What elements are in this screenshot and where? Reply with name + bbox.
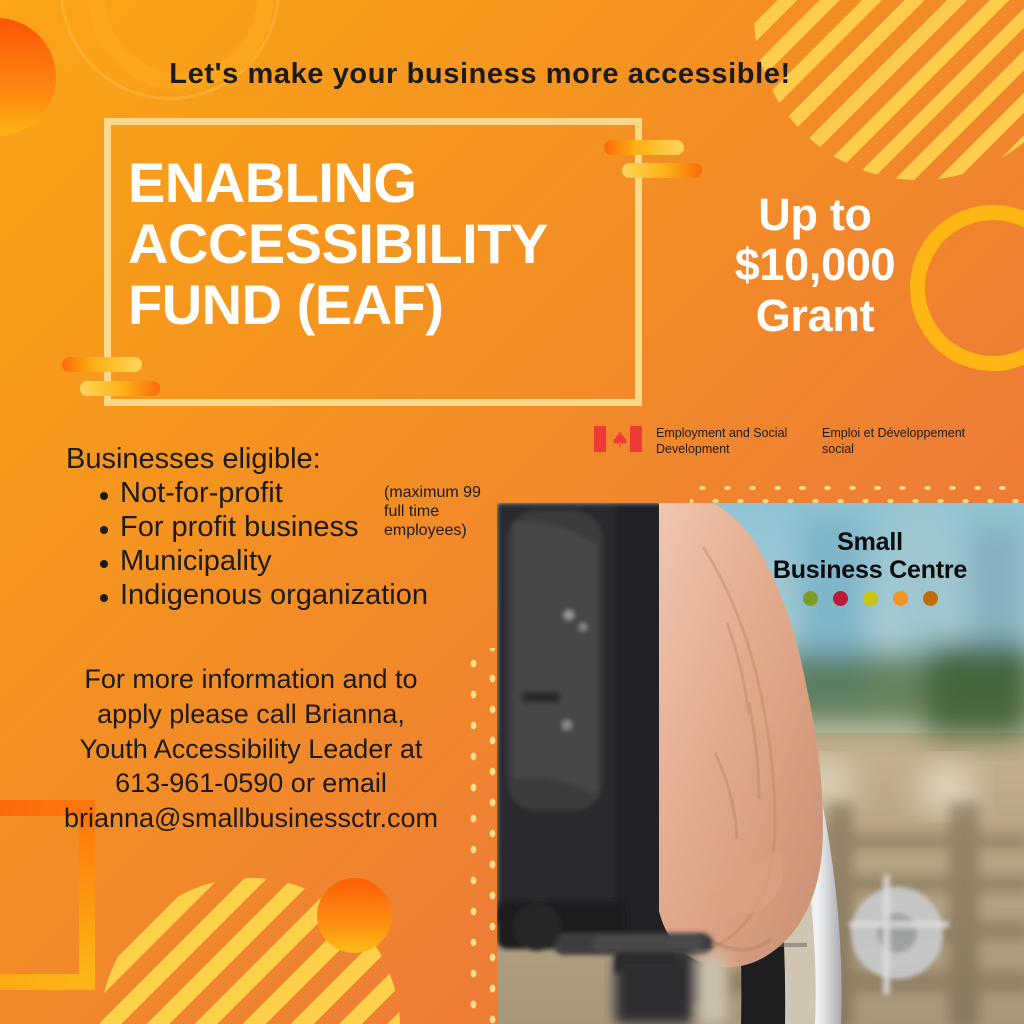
logo-line-1: Small bbox=[745, 528, 995, 556]
canada-flag-icon bbox=[594, 426, 642, 452]
contact-block: For more information and to apply please… bbox=[30, 662, 472, 836]
page-title: ENABLING ACCESSIBILITY FUND (EAF) bbox=[128, 152, 648, 335]
contact-line-3: Youth Accessibility Leader at bbox=[30, 732, 472, 767]
poster-canvas: Let's make your business more accessible… bbox=[0, 0, 1024, 1024]
wordmark-text-french: Emploi et Développement social bbox=[822, 426, 992, 458]
title-line-1: ENABLING bbox=[128, 152, 648, 213]
grant-line-3: Grant bbox=[690, 291, 940, 341]
decor-striped-circle-bottom-left bbox=[100, 878, 400, 1024]
contact-phone: 613-961-0590 or email bbox=[30, 766, 472, 801]
logo-dot-crimson bbox=[833, 591, 848, 606]
logo-dot-green bbox=[803, 591, 818, 606]
title-line-2: ACCESSIBILITY bbox=[128, 213, 648, 274]
list-item: Municipality bbox=[120, 546, 428, 580]
government-wordmark: Employment and Social Development Emploi… bbox=[594, 426, 992, 458]
list-item: Not-for-profit bbox=[120, 478, 428, 512]
logo-dot-orange bbox=[893, 591, 908, 606]
list-item: For profit business bbox=[120, 512, 428, 546]
contact-email: brianna@smallbusinessctr.com bbox=[30, 801, 472, 836]
logo-dots bbox=[745, 591, 995, 606]
decor-dot-row bbox=[690, 478, 1024, 506]
decor-circle-bottom-left bbox=[317, 878, 392, 953]
logo-line-2: Business Centre bbox=[745, 556, 995, 584]
grant-amount-callout: Up to $10,000 Grant bbox=[690, 190, 940, 341]
logo-dot-brown bbox=[923, 591, 938, 606]
eligibility-list: Not-for-profit For profit business Munic… bbox=[92, 478, 428, 614]
contact-line-2: apply please call Brianna, bbox=[30, 697, 472, 732]
headline: Let's make your business more accessible… bbox=[0, 58, 960, 91]
logo-dot-yellow bbox=[863, 591, 878, 606]
contact-line-1: For more information and to bbox=[30, 662, 472, 697]
eligibility-note: (maximum 99 full time employees) bbox=[384, 484, 494, 541]
wordmark-text-english: Employment and Social Development bbox=[656, 426, 808, 458]
list-item: Indigenous organization bbox=[120, 580, 428, 614]
grant-line-1: Up to bbox=[690, 190, 940, 240]
small-business-centre-logo: Small Business Centre bbox=[745, 528, 995, 606]
title-line-3: FUND (EAF) bbox=[128, 274, 648, 335]
eligibility-heading: Businesses eligible: bbox=[66, 443, 321, 476]
grant-line-2: $10,000 bbox=[690, 240, 940, 290]
